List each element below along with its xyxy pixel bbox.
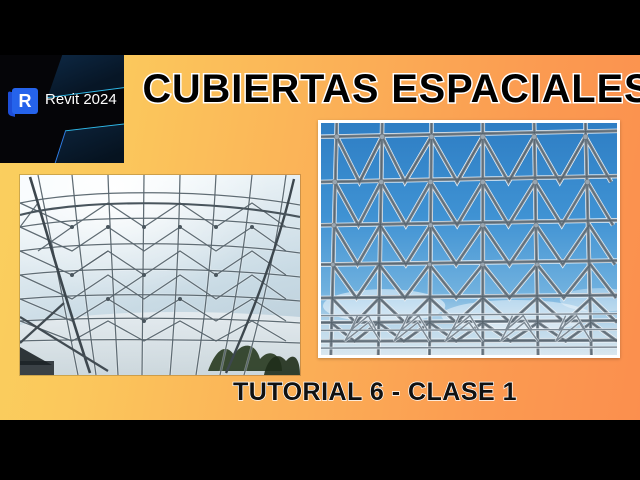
dome-photo-graphic bbox=[20, 175, 300, 375]
space-frame-dome-photo bbox=[20, 175, 300, 375]
decorative-ribbon-bottom bbox=[51, 120, 124, 163]
slide-background: R Revit 2024 CUBIERTAS ESPACIALES bbox=[0, 55, 640, 420]
revit-product-label: Revit 2024 bbox=[45, 91, 117, 108]
revit-logo-letter: R bbox=[12, 88, 38, 114]
space-frame-roof-photo bbox=[318, 120, 620, 358]
roof-photo-graphic bbox=[321, 123, 617, 355]
revit-cube-icon: R bbox=[8, 86, 40, 118]
letterbox-bar-top bbox=[0, 0, 640, 55]
letterbox-bar-bottom bbox=[0, 420, 640, 480]
slide-subtitle: TUTORIAL 6 - CLASE 1 bbox=[140, 377, 610, 407]
slide-title: CUBIERTAS ESPACIALES bbox=[142, 66, 625, 112]
revit-brand-panel: R Revit 2024 bbox=[0, 55, 124, 163]
video-frame: R Revit 2024 CUBIERTAS ESPACIALES bbox=[0, 0, 640, 480]
